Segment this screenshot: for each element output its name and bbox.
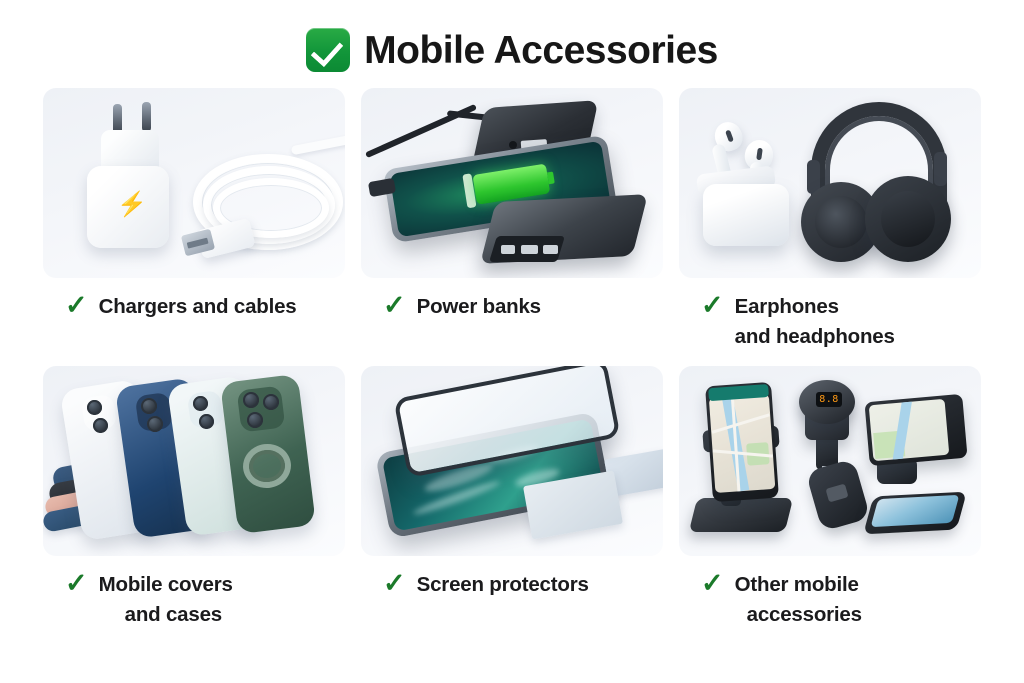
thumbnail-power-banks xyxy=(361,88,663,278)
check-icon: ✓ xyxy=(701,292,724,318)
category-grid: ⚡ ✓ Chargers and cables xyxy=(43,88,981,636)
category-label: Other mobile accessories xyxy=(735,570,862,630)
phone-cases-illustration xyxy=(43,366,345,556)
label-line-1: Screen protectors xyxy=(417,573,589,596)
thumbnail-other-mobile-accessories: 8.8 xyxy=(679,366,981,556)
category-card-earphones-and-headphones[interactable]: ✓ Earphones and headphones xyxy=(679,88,981,358)
charger-cable-illustration: ⚡ xyxy=(43,88,345,278)
screen-protector-illustration xyxy=(361,366,663,556)
check-icon: ✓ xyxy=(65,292,88,318)
page-title: Mobile Accessories xyxy=(364,31,718,70)
category-label: Earphones and headphones xyxy=(735,292,895,352)
category-card-other-mobile-accessories[interactable]: 8.8 ✓ Other mobile xyxy=(679,366,981,636)
car-mounts-illustration: 8.8 xyxy=(679,366,981,556)
car-charger-display: 8.8 xyxy=(816,392,842,407)
category-card-screen-protectors[interactable]: ✓ Screen protectors xyxy=(361,366,663,636)
thumbnail-chargers-and-cables: ⚡ xyxy=(43,88,345,278)
poster-root: Mobile Accessories ⚡ ✓ xyxy=(0,0,1024,683)
label-line-2: accessories xyxy=(735,600,862,630)
check-icon: ✓ xyxy=(701,570,724,596)
label-line-1: Power banks xyxy=(417,295,541,318)
category-card-power-banks[interactable]: ✓ Power banks xyxy=(361,88,663,358)
label-line-2: and headphones xyxy=(735,322,895,352)
category-label: Mobile covers and cases xyxy=(99,570,233,630)
white-check-mark-icon xyxy=(306,28,350,72)
thumbnail-mobile-covers-and-cases xyxy=(43,366,345,556)
category-label: Chargers and cables xyxy=(99,292,297,322)
category-label: Screen protectors xyxy=(417,570,589,600)
caption-other-mobile-accessories: ✓ Other mobile accessories xyxy=(679,556,981,636)
label-line-1: Mobile covers xyxy=(99,573,233,596)
thumbnail-earphones-and-headphones xyxy=(679,88,981,278)
label-line-1: Earphones xyxy=(735,295,839,318)
category-card-chargers-and-cables[interactable]: ⚡ ✓ Chargers and cables xyxy=(43,88,345,358)
power-bank-illustration xyxy=(361,88,663,278)
caption-mobile-covers-and-cases: ✓ Mobile covers and cases xyxy=(43,556,345,636)
label-line-2: and cases xyxy=(99,600,233,630)
thumbnail-screen-protectors xyxy=(361,366,663,556)
caption-chargers-and-cables: ✓ Chargers and cables xyxy=(43,278,345,344)
category-label: Power banks xyxy=(417,292,541,322)
label-line-1: Other mobile xyxy=(735,573,859,596)
check-icon: ✓ xyxy=(65,570,88,596)
label-line-1: Chargers and cables xyxy=(99,295,297,318)
caption-power-banks: ✓ Power banks xyxy=(361,278,663,344)
category-card-mobile-covers-and-cases[interactable]: ✓ Mobile covers and cases xyxy=(43,366,345,636)
page-header: Mobile Accessories xyxy=(0,0,1024,84)
headphones-illustration xyxy=(679,88,981,278)
check-icon: ✓ xyxy=(383,292,406,318)
caption-earphones-and-headphones: ✓ Earphones and headphones xyxy=(679,278,981,358)
caption-screen-protectors: ✓ Screen protectors xyxy=(361,556,663,622)
check-icon: ✓ xyxy=(383,570,406,596)
lightning-bolt-icon: ⚡ xyxy=(117,193,147,217)
